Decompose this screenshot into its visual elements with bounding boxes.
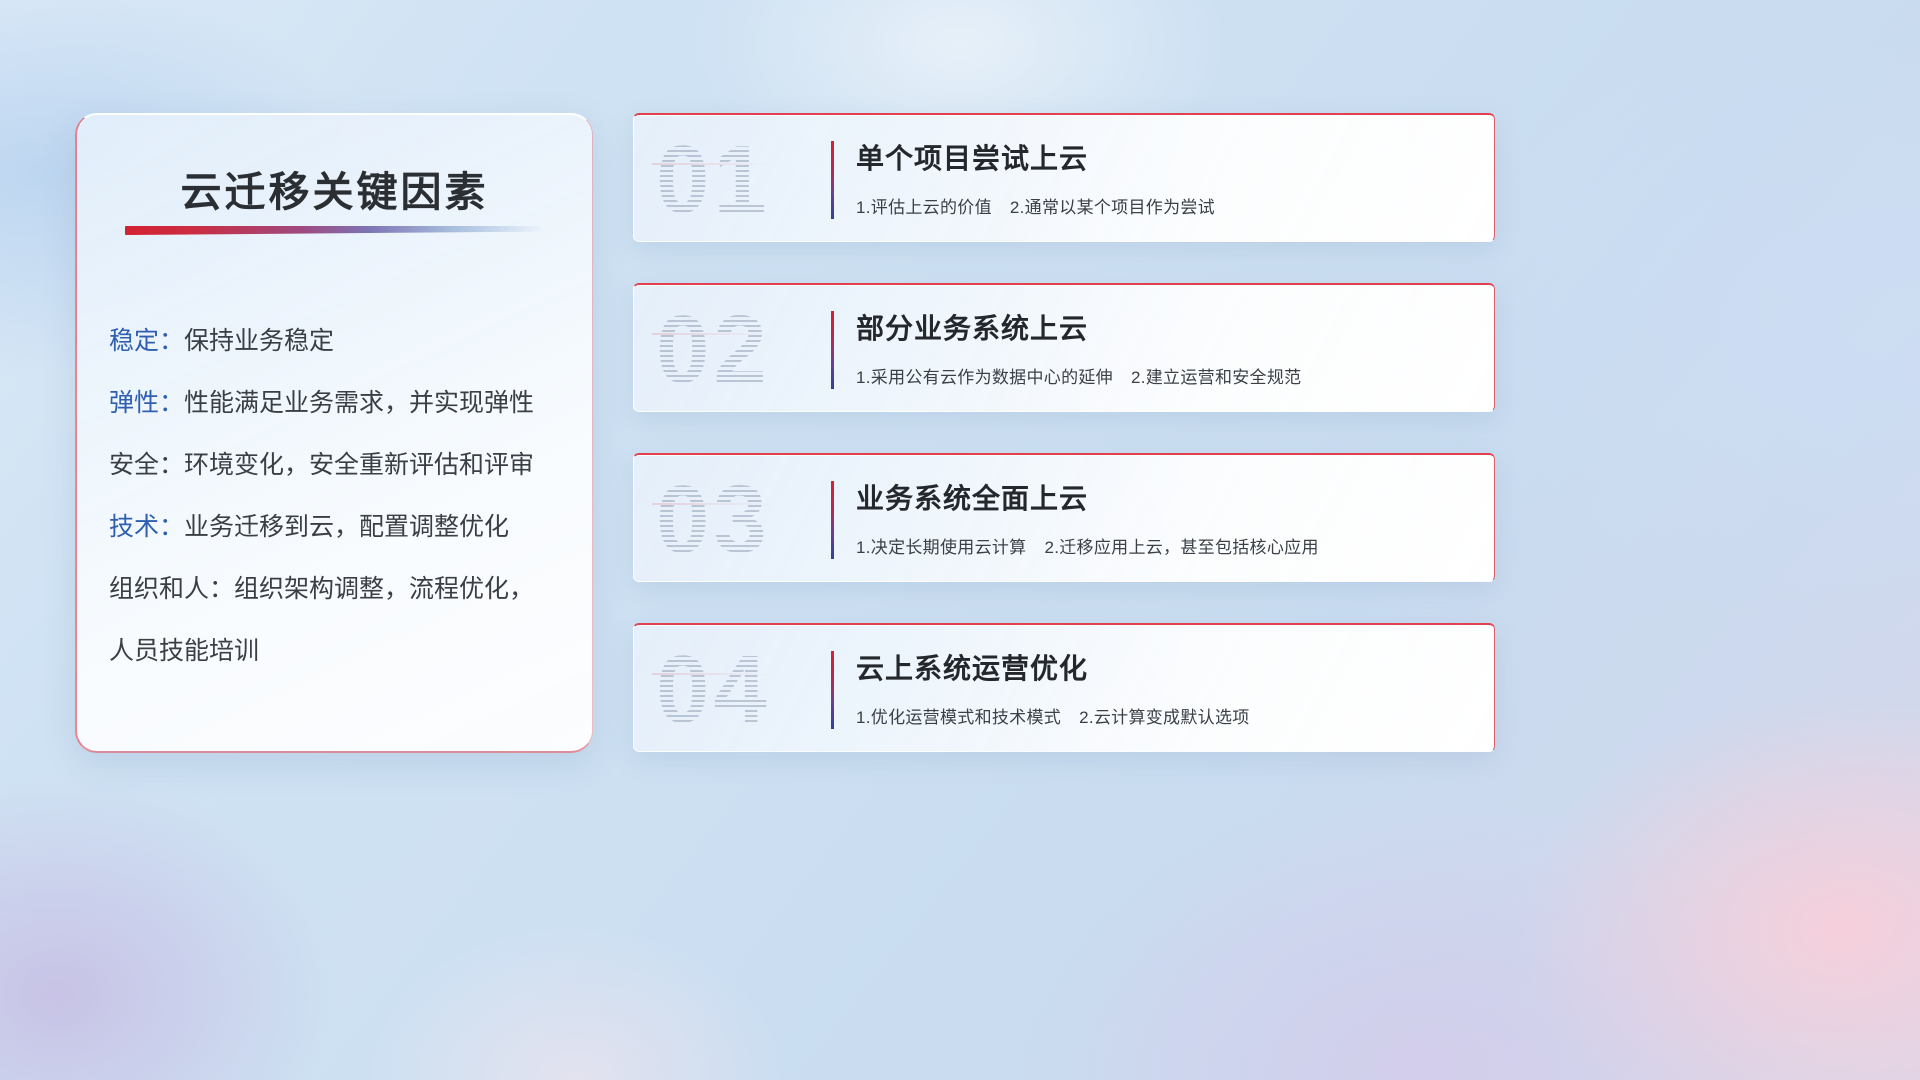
- stage-title: 部分业务系统上云: [856, 307, 1468, 347]
- stage-points: 1.优化运营模式和技术模式2.云计算变成默认选项: [856, 703, 1468, 728]
- stage-card-list: 01 单个项目尝试上云 1.评估上云的价值2.通常以某个项目作为尝试 02 部分…: [633, 113, 1495, 752]
- stage-point-1: 1.评估上云的价值: [856, 198, 992, 217]
- factor-text: 保持业务稳定: [184, 327, 334, 355]
- stage-title: 单个项目尝试上云: [856, 137, 1468, 177]
- stage-point-2: 2.建立运营和安全规范: [1131, 368, 1301, 387]
- stage-points: 1.采用公有云作为数据中心的延伸2.建立运营和安全规范: [856, 363, 1468, 388]
- factor-item: 稳定：保持业务稳定: [109, 310, 574, 372]
- factor-label: 弹性：: [109, 389, 184, 417]
- stage-number-ghost: 02: [656, 295, 771, 405]
- stage-points: 1.决定长期使用云计算2.迁移应用上云，甚至包括核心应用: [856, 533, 1468, 558]
- stage-point-1: 1.采用公有云作为数据中心的延伸: [856, 368, 1113, 387]
- factor-label: 技术：: [109, 513, 184, 541]
- stage-point-2: 2.迁移应用上云，甚至包括核心应用: [1044, 538, 1318, 557]
- factor-text: 人员技能培训: [109, 637, 259, 665]
- factor-text: 组织架构调整，流程优化，: [234, 575, 534, 603]
- stage-number-ghost: 03: [656, 465, 771, 575]
- factor-item: 组织和人：组织架构调整，流程优化，: [109, 558, 574, 620]
- factor-item-continuation: 人员技能培训: [109, 620, 574, 682]
- stage-card[interactable]: 02 部分业务系统上云 1.采用公有云作为数据中心的延伸2.建立运营和安全规范: [633, 283, 1495, 412]
- factor-text: 性能满足业务需求，并实现弹性: [184, 389, 534, 417]
- stage-card-body: 业务系统全面上云 1.决定长期使用云计算2.迁移应用上云，甚至包括核心应用: [856, 477, 1468, 558]
- stage-divider-bar: [831, 651, 834, 729]
- factor-label: 稳定：: [109, 327, 184, 355]
- factor-label: 组织和人：: [109, 575, 234, 603]
- stage-divider-bar: [831, 141, 834, 219]
- factor-text: 业务迁移到云，配置调整优化: [184, 513, 509, 541]
- stage-number-ghost: 01: [656, 125, 771, 235]
- stage-title: 业务系统全面上云: [856, 477, 1468, 517]
- factor-text: 环境变化，安全重新评估和评审: [184, 451, 534, 479]
- stage-point-1: 1.决定长期使用云计算: [856, 538, 1026, 557]
- stage-point-2: 2.通常以某个项目作为尝试: [1010, 198, 1215, 217]
- factor-item: 技术：业务迁移到云，配置调整优化: [109, 496, 574, 558]
- stage-card-body: 部分业务系统上云 1.采用公有云作为数据中心的延伸2.建立运营和安全规范: [856, 307, 1468, 388]
- factor-list: 稳定：保持业务稳定 弹性：性能满足业务需求，并实现弹性 安全：环境变化，安全重新…: [109, 310, 574, 682]
- stage-card[interactable]: 04 云上系统运营优化 1.优化运营模式和技术模式2.云计算变成默认选项: [633, 623, 1495, 752]
- stage-number-ghost: 04: [656, 635, 771, 745]
- stage-title: 云上系统运营优化: [856, 647, 1468, 687]
- stage-point-2: 2.云计算变成默认选项: [1079, 708, 1249, 727]
- stage-card-body: 单个项目尝试上云 1.评估上云的价值2.通常以某个项目作为尝试: [856, 137, 1468, 218]
- stage-card-body: 云上系统运营优化 1.优化运营模式和技术模式2.云计算变成默认选项: [856, 647, 1468, 728]
- stage-card[interactable]: 01 单个项目尝试上云 1.评估上云的价值2.通常以某个项目作为尝试: [633, 113, 1495, 242]
- stage-divider-bar: [831, 481, 834, 559]
- page-title: 云迁移关键因素: [77, 158, 592, 218]
- stage-point-1: 1.优化运营模式和技术模式: [856, 708, 1061, 727]
- stage-divider-bar: [831, 311, 834, 389]
- stage-card[interactable]: 03 业务系统全面上云 1.决定长期使用云计算2.迁移应用上云，甚至包括核心应用: [633, 453, 1495, 582]
- factor-item: 安全：环境变化，安全重新评估和评审: [109, 434, 574, 496]
- title-underline-rule: [125, 226, 545, 235]
- factor-item: 弹性：性能满足业务需求，并实现弹性: [109, 372, 574, 434]
- factor-label: 安全：: [109, 451, 184, 479]
- key-factors-panel: 云迁移关键因素 稳定：保持业务稳定 弹性：性能满足业务需求，并实现弹性 安全：环…: [75, 113, 593, 753]
- stage-points: 1.评估上云的价值2.通常以某个项目作为尝试: [856, 193, 1468, 218]
